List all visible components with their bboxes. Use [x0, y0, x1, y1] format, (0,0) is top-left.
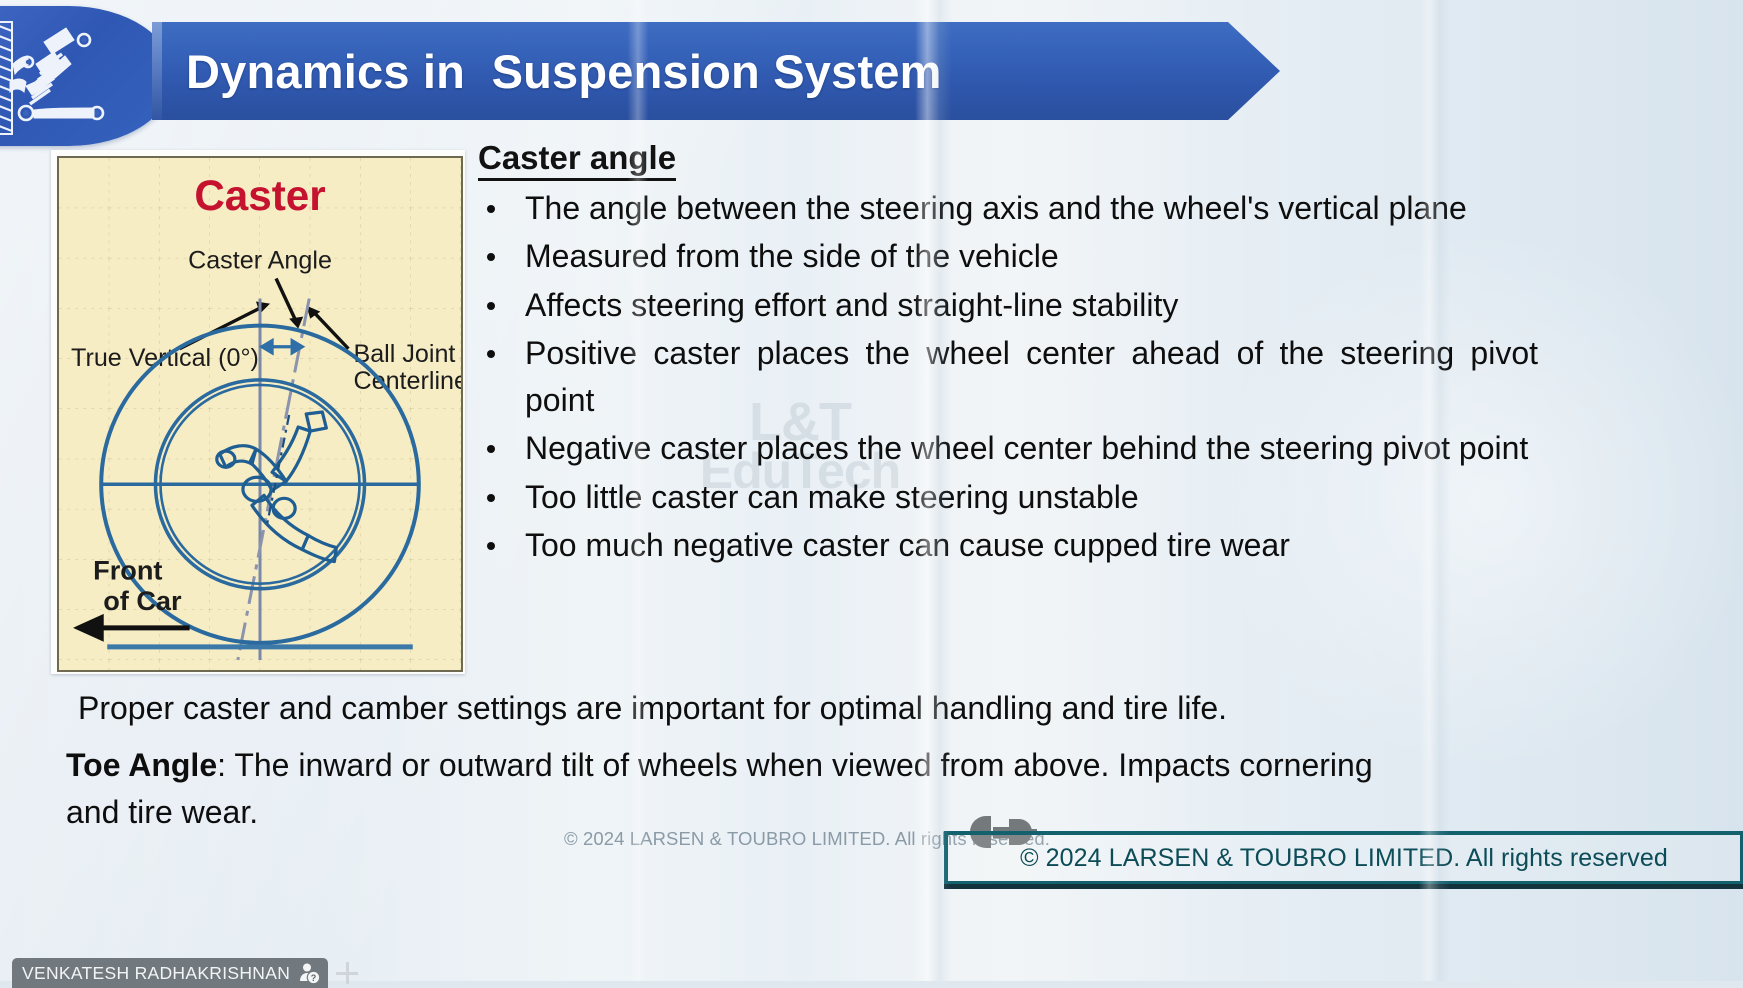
figure-label-front-1: Front — [93, 555, 162, 586]
bullet-text: Too much negative caster can cause cuppe… — [525, 527, 1290, 563]
bullet-text: Measured from the side of the vehicle — [525, 238, 1059, 274]
bullet-text: Too little caster can make steering unst… — [525, 479, 1139, 515]
user-presence-chip[interactable]: VENKATESH RADHAKRISHNAN ? — [12, 958, 328, 988]
list-item: Negative caster places the wheel center … — [478, 425, 1538, 472]
content-column: Caster angle The angle between the steer… — [478, 140, 1538, 569]
list-item: Too little caster can make steering unst… — [478, 474, 1538, 521]
suspension-strut-icon — [0, 20, 116, 136]
list-item: Measured from the side of the vehicle — [478, 233, 1538, 280]
bullet-text: Affects steering effort and straight-lin… — [525, 287, 1178, 323]
toe-angle-text: : The inward or outward tilt of wheels w… — [66, 747, 1373, 830]
bullet-list: The angle between the steering axis and … — [478, 185, 1538, 569]
figure-label-front-2: of Car — [103, 585, 182, 616]
figure-label-ball-joint-1: Ball Joint — [353, 340, 455, 368]
title-banner: Dynamics in Suspension System — [152, 22, 1280, 120]
page-title: Dynamics in Suspension System — [186, 44, 942, 99]
caster-diagram: Caster Caster Angle True Vertical (0°) B… — [51, 150, 465, 674]
caster-diagram-canvas: Caster Caster Angle True Vertical (0°) B… — [57, 156, 463, 672]
footer-rule — [944, 884, 1743, 889]
figure-title: Caster — [194, 172, 325, 219]
figure-label-caster-angle: Caster Angle — [188, 246, 332, 274]
section-heading: Caster angle — [478, 140, 676, 181]
slide-header: Dynamics in Suspension System — [0, 0, 1320, 142]
bullet-text: Positive caster places the wheel center … — [525, 330, 1538, 423]
caster-diagram-svg: Caster Caster Angle True Vertical (0°) B… — [59, 158, 461, 670]
copyright-box: © 2024 LARSEN & TOUBRO LIMITED. All righ… — [944, 831, 1743, 885]
toe-angle-paragraph: Toe Angle: The inward or outward tilt of… — [66, 742, 1396, 836]
list-item: The angle between the steering axis and … — [478, 185, 1538, 232]
bullet-text: Negative caster places the wheel center … — [525, 425, 1538, 472]
list-item: Positive caster places the wheel center … — [478, 330, 1538, 423]
toe-angle-label: Toe Angle — [66, 747, 217, 783]
bullet-text: The angle between the steering axis and … — [525, 185, 1538, 232]
copyright-text: © 2024 LARSEN & TOUBRO LIMITED. All righ… — [1020, 844, 1668, 873]
logo-badge — [0, 6, 174, 146]
svg-text:?: ? — [311, 973, 317, 983]
closing-line: Proper caster and camber settings are im… — [78, 688, 1508, 730]
list-item: Affects steering effort and straight-lin… — [478, 282, 1538, 329]
list-item: Too much negative caster can cause cuppe… — [478, 522, 1538, 569]
user-name-label: VENKATESH RADHAKRISHNAN — [22, 963, 290, 984]
slide-canvas: L&T EduTech — [0, 0, 1743, 981]
